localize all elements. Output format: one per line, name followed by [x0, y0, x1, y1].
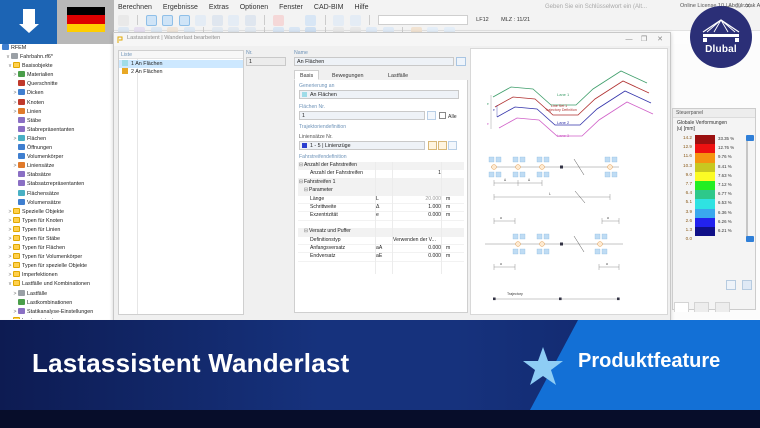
menu-item-fenster[interactable]: Fenster	[279, 4, 303, 11]
liniensaetze-value: 1 - 5 | Linienzüge	[310, 143, 351, 149]
tree-item[interactable]: >Typen für Knoten	[0, 217, 113, 226]
legend-row[interactable]: 1.36.21 %	[676, 227, 752, 236]
liniensaetze-color-swatch	[302, 143, 307, 148]
parameter-value[interactable]: 0.000	[393, 253, 441, 260]
tree-item-icon	[18, 80, 25, 86]
tree-item[interactable]: >Dicken	[0, 89, 113, 98]
svg-text:Δ: Δ	[528, 178, 531, 182]
undo-icon[interactable]	[118, 15, 129, 26]
legend-percent: 6.21 %	[718, 228, 732, 233]
tree-item[interactable]: Stäbe	[0, 117, 113, 126]
star-icon	[522, 346, 564, 386]
tree-item-icon	[18, 162, 25, 168]
legend-row[interactable]: 14.233.35 %	[676, 135, 752, 144]
tree-item-label: Lastkombinationen	[27, 300, 72, 306]
dialog-body: Liste 1 An Flächen2 An Flächen Nr. 1 Nam…	[114, 46, 670, 321]
tree-item-label: Typen für Flächen	[22, 245, 65, 251]
tree-item-label: Spezielle Objekte	[22, 209, 64, 215]
parameter-label: Anzahl der Fahrstreifen	[298, 170, 363, 177]
model-icon	[11, 53, 18, 59]
rfem-icon	[2, 44, 9, 50]
nr-label: Nr.	[246, 50, 253, 56]
tree-item-label: Querschnitte	[27, 81, 58, 87]
list-header: Liste	[119, 51, 243, 59]
legend-value: 6.4	[676, 190, 692, 195]
tree-item-label: Flächensätze	[27, 191, 59, 197]
legend-slider-handle[interactable]	[746, 236, 754, 242]
dialog-minimize-button[interactable]: —	[622, 34, 636, 45]
list-item[interactable]: 1 An Flächen	[119, 60, 243, 68]
svg-text:Trajectory Definition: Trajectory Definition	[545, 108, 577, 112]
logo-corner	[0, 0, 57, 44]
tree-item-label: Statikanalyse-Einstellungen	[27, 309, 93, 315]
german-flag-icon	[67, 7, 105, 32]
tree-item-icon	[13, 62, 20, 68]
tree-item-label: Lastfälle und Kombinationen	[22, 281, 90, 287]
parameter-label: ⊟Fahrstreifen 1	[298, 179, 335, 186]
tree-item-label: Linien	[27, 109, 41, 115]
tree-item-icon	[18, 180, 25, 186]
legend-percent: 8.41 %	[718, 164, 732, 169]
tree-item-icon	[18, 71, 25, 77]
parameter-value[interactable]: Verwenden der V...	[393, 237, 436, 244]
svg-text:e: e	[487, 122, 489, 126]
legend-value: 3.9	[676, 209, 692, 214]
parameter-row[interactable]: ⊟Parameter	[298, 187, 464, 195]
tree-root[interactable]: RFEM	[0, 44, 113, 53]
name-input[interactable]: An Flächen	[294, 57, 454, 66]
legend-color-swatch	[695, 199, 715, 208]
view-icon-2[interactable]	[162, 15, 173, 26]
svg-text:a: a	[606, 262, 608, 266]
tree-item[interactable]: >Flächen	[0, 135, 113, 144]
parameter-row[interactable]: AnfangsversatzaA0.000m	[298, 245, 464, 253]
tree-item-label: Volumenkörper	[27, 154, 63, 160]
legend[interactable]: 14.233.35 %12.912.76 %11.69.76 %10.38.41…	[676, 135, 752, 245]
parameter-table[interactable]: ⊟Anzahl der FahrstreifenAnzahl der Fahrs…	[298, 162, 464, 262]
name-edit-button[interactable]	[456, 57, 466, 66]
legend-row[interactable]: 5.16.53 %	[676, 199, 752, 208]
tree-item-icon	[18, 108, 25, 114]
tree-item[interactable]: >Typen für Linien	[0, 226, 113, 235]
legend-value: 12.9	[676, 144, 692, 149]
svg-text:a: a	[500, 216, 502, 220]
legend-row[interactable]: 9.07.63 %	[676, 172, 752, 181]
parameter-row[interactable]: Anzahl der Fahrstreifen1	[298, 170, 464, 178]
parameter-value[interactable]: 0.000	[393, 212, 441, 219]
tree-item-label: Lastfälle	[27, 291, 47, 297]
new-liniensatz-button[interactable]	[428, 141, 437, 150]
parameter-label: Endversatz	[298, 253, 335, 260]
legend-value: 11.6	[676, 153, 692, 158]
caption-line-2: |u| [mm]	[677, 126, 727, 132]
tree-item-label: Stabsätze	[27, 172, 51, 178]
tab-filter[interactable]	[715, 302, 730, 312]
tree-item[interactable]: Öffnungen	[0, 144, 113, 153]
generate-select[interactable]: An Flächen	[299, 90, 459, 99]
tree-item-icon	[18, 144, 25, 150]
tree-item-icon	[13, 244, 20, 250]
tree-item[interactable]: Stabsätze	[0, 171, 113, 180]
tab-color-scale[interactable]	[674, 302, 689, 312]
parameter-label: ⊟Anzahl der Fahrstreifen	[298, 162, 357, 169]
wanderlast-icon	[117, 36, 124, 44]
nr-input[interactable]: 1	[246, 57, 286, 66]
tree-item-label: Stäbe	[27, 118, 41, 124]
tree-item-label: Volumensätze	[27, 200, 61, 206]
legend-color-swatch	[695, 181, 715, 190]
tree-item[interactable]: Volumensätze	[0, 199, 113, 208]
tree-item[interactable]: >Linien	[0, 108, 113, 117]
legend-percent: 7.63 %	[718, 173, 732, 178]
tree-item-label: Knoten	[27, 100, 44, 106]
dlubal-truss-icon	[701, 18, 741, 42]
parameter-row[interactable]: DefinitionstypVerwenden der V...	[298, 237, 464, 245]
parameter-row[interactable]: LängeL20.000m	[298, 196, 464, 204]
tree-item-icon	[13, 235, 20, 241]
print-icon[interactable]	[212, 15, 223, 26]
tree-item-icon	[13, 226, 20, 232]
menu-item-extras[interactable]: Extras	[209, 4, 229, 11]
list-pane[interactable]: Liste 1 An Flächen2 An Flächen	[118, 50, 244, 315]
tree-item[interactable]: >Spezielle Objekte	[0, 208, 113, 217]
legend-row[interactable]: 7.77.12 %	[676, 181, 752, 190]
parameter-label: Exzentrizität	[298, 212, 338, 219]
legend-percent: 6.53 %	[718, 200, 732, 205]
parameter-unit: m	[446, 196, 450, 203]
tree-item-label: Typen für Volumenkörper	[22, 254, 82, 260]
menu-item-berechnen[interactable]: Berechnen	[118, 4, 152, 11]
tree-item-label: Lastassistenten	[22, 318, 59, 319]
promo-banner: Lastassistent Wanderlast Produktfeature	[0, 320, 760, 410]
search-input[interactable]: Geben Sie ein Schlüsselwort ein (Alt...	[545, 4, 665, 15]
tree-item-label: Imperfektionen	[22, 272, 58, 278]
list-item[interactable]: 2 An Flächen	[119, 68, 243, 76]
alle-checkbox[interactable]: Alle	[439, 112, 457, 120]
menu-item-hilfe[interactable]: Hilfe	[354, 4, 368, 11]
tree-item[interactable]: >Typen für Volumenkörper	[0, 253, 113, 262]
generate-color-swatch	[302, 92, 307, 97]
parameter-value[interactable]: 1	[393, 170, 441, 177]
load-icon-1[interactable]	[333, 15, 344, 26]
liniensaetze-select[interactable]: 1 - 5 | Linienzüge	[299, 141, 425, 150]
tree-item-icon	[18, 299, 25, 305]
parameter-row[interactable]: ⊟Anzahl der Fahrstreifen	[298, 162, 464, 170]
tree-item-label: Typen für spezielle Objekte	[22, 263, 87, 269]
parameter-symbol: aA	[376, 245, 382, 252]
tree-item[interactable]: >Typen für spezielle Objekte	[0, 262, 113, 271]
tree-item-icon	[18, 99, 25, 105]
legend-value: 5.1	[676, 199, 692, 204]
legend-color-swatch	[695, 135, 715, 144]
legend-settings-icon[interactable]	[742, 280, 752, 290]
tree-item-icon	[13, 253, 20, 259]
dialog-title: Lastassistent | Wanderlast bearbeiten	[127, 35, 220, 41]
trajektorien-label: Trajektoriendefinition	[299, 124, 346, 130]
legend-percent: 6.77 %	[718, 191, 732, 196]
legend-color-swatch	[695, 144, 715, 153]
legend-percent: 9.76 %	[718, 154, 732, 159]
tree-item[interactable]: >Typen für Stäbe	[0, 235, 113, 244]
control-panel-buttons[interactable]	[724, 277, 752, 295]
basis-panel: Generierung an An Flächen Flächen Nr. 1 …	[294, 80, 468, 313]
pick-liniensatz-button[interactable]	[448, 141, 457, 150]
expand-icon[interactable]: ⊟	[303, 228, 309, 235]
menu-item-ergebnisse[interactable]: Ergebnisse	[163, 4, 198, 11]
navigator-tree[interactable]: RFEM vFahrbahn.rf6* vBasisobjekte>Materi…	[0, 44, 113, 319]
menu-item-optionen[interactable]: Optionen	[240, 4, 268, 11]
svg-text:Lane 3: Lane 3	[557, 133, 570, 138]
move-icon[interactable]	[245, 15, 256, 26]
tree-item-icon	[18, 190, 25, 196]
tree-item-label: Stabrepräsentanten	[27, 127, 74, 133]
legend-percent: 6.36 %	[718, 210, 732, 215]
parameter-symbol: aE	[376, 253, 382, 260]
tree-item-icon	[13, 217, 20, 223]
dlubal-badge: Dlubal	[690, 6, 752, 68]
dlubal-wordmark: Dlubal	[690, 44, 752, 55]
tree-item-icon	[13, 280, 20, 286]
control-panel-title: Steuerpanel	[673, 109, 755, 118]
expand-icon[interactable]: ⊟	[298, 179, 304, 186]
name-label: Name	[294, 50, 308, 56]
parameter-label: Definitionstyp	[298, 237, 341, 244]
legend-value: 1.3	[676, 227, 692, 232]
tree-item-label: Öffnungen	[27, 145, 52, 151]
tree-item-label: Basisobjekte	[22, 63, 53, 69]
parameter-symbol: e	[376, 212, 379, 219]
control-panel: Steuerpanel Globale Verformungen |u| [mm…	[672, 108, 756, 310]
svg-text:Lane 2: Lane 2	[557, 120, 570, 125]
tree-model-label: Fahrbahn.rf6*	[20, 54, 53, 60]
tree-item[interactable]: vLastassistenten	[0, 317, 113, 319]
tree-item-icon	[18, 135, 25, 141]
tree-item-icon	[13, 262, 20, 268]
legend-color-swatch	[695, 163, 715, 172]
parameter-symbol: Δ	[376, 204, 379, 211]
view-icon-4[interactable]	[195, 15, 206, 26]
parameter-label: ⊟Parameter	[298, 187, 333, 194]
load-case-tag: LF12	[476, 15, 489, 26]
legend-percent: 6.26 %	[718, 219, 732, 224]
legend-color-swatch	[695, 209, 715, 218]
parameter-value[interactable]: 1.000	[393, 204, 441, 211]
promo-title: Lastassistent Wanderlast	[32, 348, 349, 379]
tree-item-icon	[18, 126, 25, 132]
parameter-value[interactable]: 0.000	[393, 245, 441, 252]
parameter-label: Länge	[298, 196, 324, 203]
tree-item-icon	[13, 208, 20, 214]
parameter-row[interactable]: ⊟Versatz und Puffer	[298, 228, 464, 236]
parameter-label: Anfangsversatz	[298, 245, 345, 252]
legend-row[interactable]: 11.69.76 %	[676, 153, 752, 162]
tree-item[interactable]: Querschnitte	[0, 80, 113, 89]
svg-text:Δ: Δ	[504, 178, 507, 182]
list-item-color-swatch	[122, 60, 128, 66]
tree-item[interactable]: >Statikanalyse-Einstellungen	[0, 308, 113, 317]
parameter-row[interactable]: EndversatzaE0.000m	[298, 253, 464, 261]
results-icon[interactable]	[305, 15, 316, 26]
tree-item-icon	[13, 317, 20, 319]
legend-color-swatch	[695, 227, 715, 236]
tree-item-icon	[18, 171, 25, 177]
parameter-unit: m	[446, 253, 450, 260]
load-icon-2[interactable]	[350, 15, 361, 26]
parameter-row[interactable]: SchrittweiteΔ1.000m	[298, 204, 464, 212]
parameter-label: Schrittweite	[298, 204, 336, 211]
legend-value: 10.3	[676, 163, 692, 168]
dialog-title-bar: Lastassistent | Wanderlast bearbeiten — …	[114, 33, 670, 47]
legend-value: 0.0	[676, 236, 692, 241]
list-item-name: An Flächen	[135, 69, 162, 75]
flaechen-label: Flächen Nr.	[299, 104, 325, 110]
parameter-label: ⊟Versatz und Puffer	[298, 228, 351, 235]
pick-flaechen-button[interactable]	[427, 111, 436, 120]
tree-item-label: Typen für Stäbe	[22, 236, 60, 242]
legend-value: 2.6	[676, 218, 692, 223]
tree-item[interactable]: >Liniensätze	[0, 162, 113, 171]
legend-row[interactable]: 0.0	[676, 236, 752, 245]
svg-text:e: e	[493, 108, 495, 112]
legend-color-swatch	[695, 218, 715, 227]
tree-item[interactable]: Volumenkörper	[0, 153, 113, 162]
tab-basis[interactable]: Basis	[294, 70, 319, 80]
menu-item-cad-bim[interactable]: CAD-BIM	[314, 4, 344, 11]
tree-item-label: Typen für Knoten	[22, 218, 63, 224]
expand-icon[interactable]: ⊟	[303, 187, 309, 194]
svg-text:a: a	[500, 262, 502, 266]
tree-item-label: Dicken	[27, 90, 43, 96]
svg-text:L: L	[549, 192, 551, 196]
load-case-info: MLZ : 11/21	[501, 15, 530, 26]
footer-bar	[0, 410, 760, 428]
lane-preview-svg: Lane 1 Line Set 1 Trajectory Definition …	[471, 49, 667, 314]
liniensaetze-label: Liniensätze Nr.	[299, 134, 333, 140]
tree-item-label: Materialien	[27, 72, 53, 78]
parameter-unit: m	[446, 212, 450, 219]
flag-box	[57, 0, 114, 44]
flaechen-input[interactable]: 1	[299, 111, 425, 120]
tree-item-icon	[18, 308, 25, 314]
svg-text:e: e	[487, 102, 489, 106]
legend-percent: 12.76 %	[718, 145, 734, 150]
list-item-color-swatch	[122, 68, 128, 74]
legend-color-swatch	[695, 190, 715, 199]
tree-items[interactable]: vBasisobjekte>MaterialienQuerschnitte>Di…	[0, 62, 113, 319]
tree-item[interactable]: Flächensätze	[0, 190, 113, 199]
tree-item-icon	[18, 117, 25, 123]
dialog-close-button[interactable]: ✕	[653, 34, 667, 45]
tab-bewegungen[interactable]: Bewegungen	[326, 70, 369, 80]
parameter-symbol: L	[376, 196, 379, 203]
svg-text:Lane 1: Lane 1	[557, 92, 570, 97]
tree-model[interactable]: vFahrbahn.rf6*	[0, 53, 113, 62]
tree-item-label: Flächen	[27, 136, 46, 142]
down-right-arrow-icon	[18, 8, 40, 34]
legend-row[interactable]: 12.912.76 %	[676, 144, 752, 153]
detail-form: Nr. 1 Name An Flächen Basis Bewegungen L…	[246, 48, 466, 313]
print-legend-icon[interactable]	[726, 280, 736, 290]
legend-percent: 33.35 %	[718, 136, 734, 141]
legend-row[interactable]: 2.66.26 %	[676, 218, 752, 227]
edit-liniensatz-button[interactable]	[438, 141, 447, 150]
wanderlast-dialog: Lastassistent | Wanderlast bearbeiten — …	[113, 32, 671, 322]
tree-item-label: Liniensätze	[27, 163, 54, 169]
tree-root-label: RFEM	[11, 45, 26, 51]
tree-item[interactable]: Lastkombinationen	[0, 299, 113, 308]
tab-lastfaelle[interactable]: Lastfälle	[382, 70, 414, 80]
view-icon-3[interactable]	[179, 15, 190, 26]
preview-graphics: Lane 1 Line Set 1 Trajectory Definition …	[470, 48, 668, 315]
calculate-icon[interactable]	[273, 15, 284, 26]
parameter-value[interactable]: 20.000	[393, 196, 441, 203]
tab-factors[interactable]	[694, 302, 709, 312]
load-case-select[interactable]	[378, 15, 468, 25]
legend-color-swatch	[695, 172, 715, 181]
control-panel-caption: Globale Verformungen |u| [mm]	[677, 120, 727, 132]
tree-item[interactable]: Stabsatzrepräsentanten	[0, 180, 113, 189]
tree-item-icon	[18, 89, 25, 95]
generate-label: Generierung an	[299, 83, 334, 89]
svg-text:a: a	[607, 216, 609, 220]
parameter-row[interactable]: Exzentrizitäte0.000m	[298, 212, 464, 220]
tree-item[interactable]: Stabrepräsentanten	[0, 126, 113, 135]
tree-item-icon	[13, 271, 20, 277]
legend-row[interactable]: 6.46.77 %	[676, 190, 752, 199]
parameter-unit: m	[446, 204, 450, 211]
legend-percent: 7.12 %	[718, 182, 732, 187]
tree-item-icon	[18, 290, 25, 296]
tree-item-label: Stabsatzrepräsentanten	[27, 181, 84, 187]
tree-item[interactable]: >Typen für Flächen	[0, 244, 113, 253]
tree-item[interactable]: vLastfälle und Kombinationen	[0, 280, 113, 289]
tree-item[interactable]: >Materialien	[0, 71, 113, 80]
legend-value: 7.7	[676, 181, 692, 186]
legend-value: 14.2	[676, 135, 692, 140]
application-window: BerechnenErgebnisseExtrasOptionenFenster…	[0, 0, 760, 428]
fahrstreifen-label: Fahrstreifendefinition	[299, 154, 347, 160]
control-panel-tabs[interactable]	[674, 299, 731, 309]
list-item-name: An Flächen	[135, 61, 162, 67]
trajectory-label: Trajectory	[507, 292, 523, 296]
tree-item-label: Typen für Linien	[22, 227, 60, 233]
chevron-down-icon[interactable]	[289, 15, 300, 26]
expand-icon[interactable]: ⊟	[298, 162, 304, 169]
tree-item[interactable]: >Knoten	[0, 99, 113, 108]
legend-row[interactable]: 3.96.36 %	[676, 209, 752, 218]
grid-icon[interactable]	[228, 15, 239, 26]
generate-value: An Flächen	[310, 92, 337, 98]
parameter-unit: m	[446, 245, 450, 252]
dialog-maximize-button[interactable]: ❐	[637, 34, 651, 45]
legend-row[interactable]: 10.38.41 %	[676, 163, 752, 172]
tree-item-icon	[18, 153, 25, 159]
parameter-row[interactable]	[298, 221, 464, 228]
tree-item[interactable]: vBasisobjekte	[0, 62, 113, 71]
view-icon-1[interactable]	[146, 15, 157, 26]
tree-item[interactable]: >Lastfälle	[0, 290, 113, 299]
legend-slider-handle[interactable]	[746, 135, 754, 141]
legend-color-swatch	[695, 153, 715, 162]
promo-subtitle: Produktfeature	[578, 350, 720, 373]
tree-item-icon	[18, 199, 25, 205]
parameter-row[interactable]: ⊟Fahrstreifen 1	[298, 179, 464, 187]
alle-label: Alle	[448, 114, 457, 120]
legend-value: 9.0	[676, 172, 692, 177]
tree-item[interactable]: >Imperfektionen	[0, 271, 113, 280]
